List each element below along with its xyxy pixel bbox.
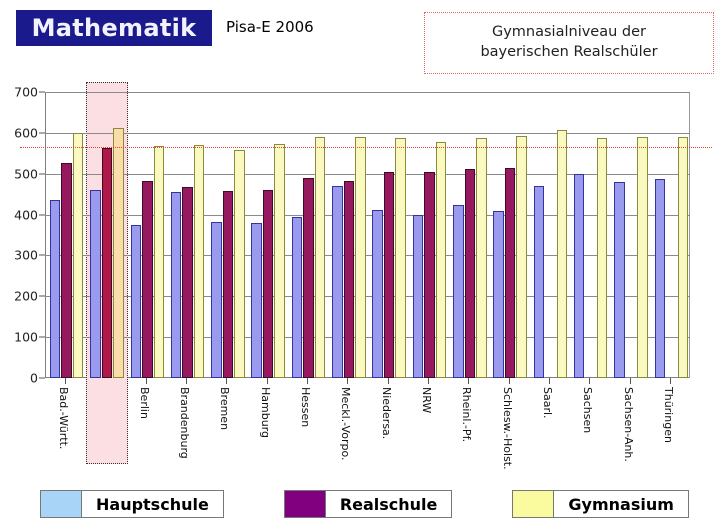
x-tick-mark-5 — [267, 378, 268, 384]
legend-item-hauptschule[interactable]: Hauptschule — [40, 490, 224, 518]
bar-realschule-rheinl-pf — [465, 169, 476, 378]
x-tick-mark-8 — [388, 378, 389, 384]
bar-hauptschule-hessen — [292, 217, 303, 378]
bar-realschule-brandenburg — [182, 187, 193, 378]
annotation-line-2: bayerischen Realschüler — [480, 43, 657, 63]
x-tick-mark-6 — [307, 378, 308, 384]
x-axis-label-hamburg: Hamburg — [259, 387, 272, 438]
bar-gymnasium-nrw — [436, 142, 447, 378]
bar-gymnasium-brandenburg — [194, 145, 205, 378]
y-tick-label-100: 100 — [14, 330, 38, 345]
bar-hauptschule-niedersa — [372, 210, 383, 378]
x-axis-label-bremen: Bremen — [218, 387, 231, 430]
bar-gymnasium-bad-w-rtt — [73, 133, 84, 378]
x-axis-label-th-ringen: Thüringen — [662, 387, 675, 443]
bar-realschule-bremen — [223, 191, 234, 378]
bar-gymnasium-sachsen — [597, 138, 608, 378]
x-tick-mark-14 — [630, 378, 631, 384]
x-axis-label-nrw: NRW — [420, 387, 433, 413]
x-tick-mark-7 — [347, 378, 348, 384]
bar-gymnasium-berlin — [154, 146, 165, 378]
x-tick-mark-15 — [670, 378, 671, 384]
page-title: Mathematik — [32, 14, 197, 42]
bar-hauptschule-brandenburg — [171, 192, 182, 378]
legend-swatch-gymnasium — [513, 491, 554, 517]
bar-gymnasium-saarl — [557, 130, 568, 378]
bar-realschule-bad-w-rtt — [61, 163, 72, 378]
legend-item-gymnasium[interactable]: Gymnasium — [512, 490, 689, 518]
bar-realschule-berlin — [142, 181, 153, 378]
x-axis-label-berlin: Berlin — [138, 387, 151, 419]
legend-label-realschule: Realschule — [326, 491, 452, 517]
bar-hauptschule-th-ringen — [655, 179, 666, 378]
y-tick-label-700: 700 — [14, 85, 38, 100]
bar-gymnasium-schlesw-holst — [516, 136, 527, 378]
bar-gymnasium-hamburg — [274, 144, 285, 378]
legend-label-gymnasium: Gymnasium — [554, 491, 688, 517]
bar-hauptschule-berlin — [131, 225, 142, 378]
legend-item-realschule[interactable]: Realschule — [284, 490, 453, 518]
x-tick-mark-2 — [146, 378, 147, 384]
y-tick-label-600: 600 — [14, 125, 38, 140]
bar-gymnasium-th-ringen — [678, 137, 689, 378]
bar-gymnasium-sachsen-anh — [637, 137, 648, 378]
x-axis-label-niedersa: Niedersa. — [380, 387, 393, 439]
bar-hauptschule-schlesw-holst — [493, 211, 504, 378]
x-tick-mark-12 — [549, 378, 550, 384]
bar-realschule-niedersa — [384, 172, 395, 378]
x-tick-mark-0 — [65, 378, 66, 384]
x-tick-mark-9 — [428, 378, 429, 384]
bar-gymnasium-bayern — [113, 128, 124, 378]
legend-swatch-hauptschule — [41, 491, 82, 517]
bar-gymnasium-hessen — [315, 137, 326, 378]
x-axis-label-brandenburg: Brandenburg — [178, 387, 191, 459]
bar-realschule-nrw — [424, 172, 435, 378]
x-tick-mark-11 — [509, 378, 510, 384]
x-axis-label-sachsen-anh: Sachsen-Anh. — [622, 387, 635, 462]
bar-hauptschule-bremen — [211, 222, 222, 378]
bar-realschule-bayern — [102, 148, 113, 378]
legend-swatch-realschule — [285, 491, 326, 517]
x-tick-mark-4 — [226, 378, 227, 384]
bar-realschule-meckl-vorpo — [344, 181, 355, 378]
x-tick-mark-10 — [468, 378, 469, 384]
annotation-line-1: Gymnasialniveau der — [492, 23, 646, 43]
reference-line-gymnasialniveau — [45, 147, 712, 148]
x-axis-label-meckl-vorpo: Meckl.-Vorpo. — [339, 387, 352, 461]
bar-hauptschule-hamburg — [251, 223, 262, 378]
legend-label-hauptschule: Hauptschule — [82, 491, 223, 517]
annotation-callout: Gymnasialniveau der bayerischen Realschü… — [424, 12, 714, 74]
y-tick-label-400: 400 — [14, 207, 38, 222]
bar-realschule-hamburg — [263, 190, 274, 378]
bar-realschule-hessen — [303, 178, 314, 378]
y-tick-label-500: 500 — [14, 166, 38, 181]
bar-gymnasium-bremen — [234, 150, 245, 378]
chart-subtitle: Pisa-E 2006 — [226, 18, 314, 36]
bar-hauptschule-rheinl-pf — [453, 205, 464, 378]
chart-title-banner: Mathematik — [16, 10, 212, 46]
bar-hauptschule-nrw — [413, 215, 424, 378]
y-tick-label-300: 300 — [14, 248, 38, 263]
x-axis-label-hessen: Hessen — [299, 387, 312, 427]
reference-line-stub — [20, 147, 46, 148]
bars-layer — [45, 92, 690, 378]
x-tick-mark-13 — [589, 378, 590, 384]
bar-gymnasium-meckl-vorpo — [355, 137, 366, 378]
bar-hauptschule-sachsen-anh — [614, 182, 625, 378]
x-axis-layer: Bad.-Württ.BayernBerlinBrandenburgBremen… — [45, 378, 690, 474]
bar-gymnasium-rheinl-pf — [476, 138, 487, 378]
x-axis-label-saarl: Saarl. — [541, 387, 554, 419]
bar-gymnasium-niedersa — [395, 138, 406, 378]
y-tick-label-0: 0 — [30, 371, 38, 386]
bar-hauptschule-bad-w-rtt — [50, 200, 61, 378]
y-tick-label-200: 200 — [14, 289, 38, 304]
bar-hauptschule-sachsen — [574, 174, 585, 378]
x-axis-label-bad-w-rtt: Bad.-Württ. — [57, 387, 70, 449]
chart-legend: Hauptschule Realschule Gymnasium — [40, 490, 696, 518]
bar-realschule-schlesw-holst — [505, 168, 516, 378]
x-axis-label-sachsen: Sachsen — [581, 387, 594, 433]
x-axis-label-schlesw-holst: Schlesw.-Holst. — [501, 387, 514, 470]
x-axis-label-rheinl-pf: Rheinl.-Pf. — [460, 387, 473, 442]
bar-hauptschule-bayern — [90, 190, 101, 378]
x-tick-mark-3 — [186, 378, 187, 384]
bar-hauptschule-meckl-vorpo — [332, 186, 343, 378]
bar-hauptschule-saarl — [534, 186, 545, 378]
